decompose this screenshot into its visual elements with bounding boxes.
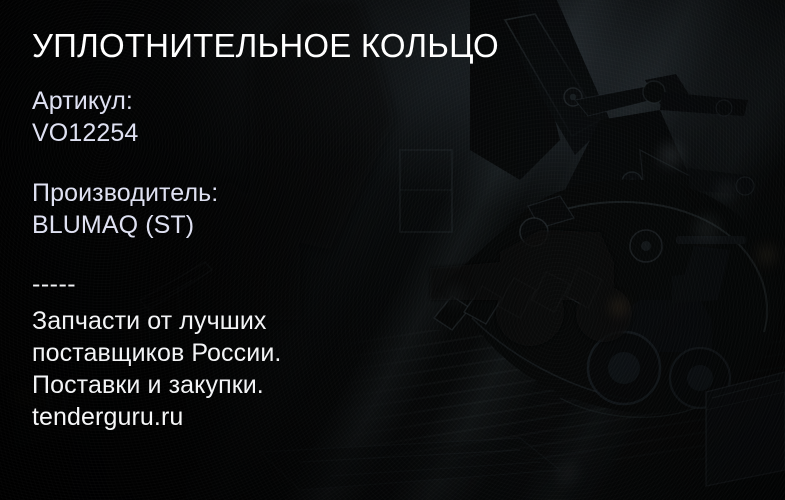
manufacturer-label: Производитель: (32, 177, 218, 209)
site-url: tenderguru.ru (32, 401, 502, 433)
manufacturer-value: BLUMAQ (ST) (32, 209, 218, 241)
tagline-line-1: Запчасти от лучших (32, 305, 502, 337)
article-value: VO12254 (32, 117, 138, 149)
manufacturer-field: Производитель: BLUMAQ (ST) (32, 177, 218, 241)
tagline-block: Запчасти от лучших поставщиков России. П… (32, 305, 502, 433)
tagline-line-2: поставщиков России. (32, 337, 502, 369)
divider: ----- (32, 271, 76, 297)
article-field: Артикул: VO12254 (32, 85, 138, 149)
page-title: УПЛОТНИТЕЛЬНОЕ КОЛЬЦО (32, 26, 499, 66)
product-banner: УПЛОТНИТЕЛЬНОЕ КОЛЬЦО Артикул: VO12254 П… (0, 0, 785, 500)
tagline-line-3: Поставки и закупки. (32, 369, 502, 401)
banner-content: УПЛОТНИТЕЛЬНОЕ КОЛЬЦО Артикул: VO12254 П… (32, 0, 552, 500)
article-label: Артикул: (32, 85, 138, 117)
